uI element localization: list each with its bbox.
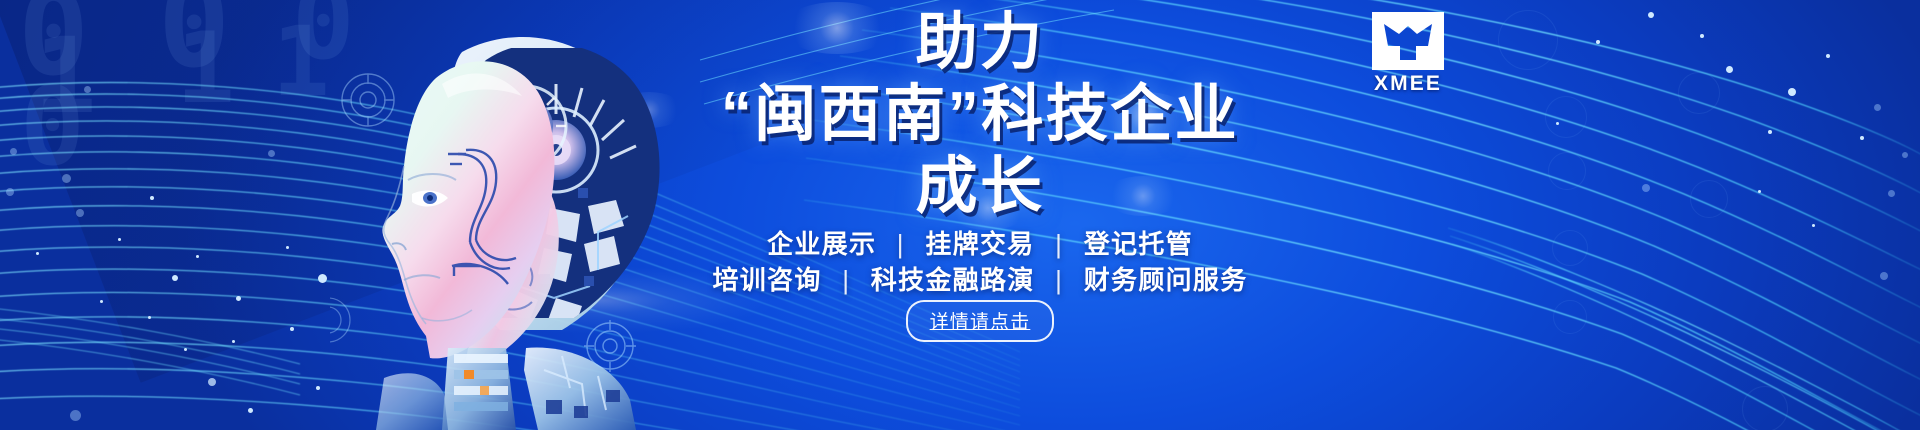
tech-circle-decor [1548,152,1586,190]
service-item-listing-trading: 挂牌交易 [925,229,1034,259]
headline-line-2: “闽西南”科技企业 [620,84,1340,146]
xmee-crown-mark [1372,12,1444,70]
service-list-row-2: 培训咨询 | 科技金融路演 | 财务顾问服务 [620,260,1340,297]
tech-circle-decor [1678,72,1720,114]
tech-circle-decor [1690,180,1728,218]
tech-circle-decor [1545,96,1587,138]
service-separator: | [897,229,905,260]
banner-copy: 助力 “闽西南”科技企业 成长 企业展示 | 挂牌交易 | 登记托管 培训咨询 … [620,0,1340,430]
tech-circle-decor [1552,230,1588,266]
service-separator: | [1055,265,1063,296]
tech-circle-decor [1742,386,1788,430]
service-item-tech-finance-roadshow: 科技金融路演 [871,265,1035,295]
tech-circle-decor [1553,300,1587,334]
service-item-financial-advisory: 财务顾问服务 [1084,265,1248,295]
service-separator: | [1055,229,1063,260]
service-item-registration-custody: 登记托管 [1084,229,1193,259]
xmee-logo-text: XMEE [1360,72,1456,96]
headline-line-3: 成长 [620,156,1340,218]
service-item-training-consulting: 培训咨询 [712,265,821,295]
service-separator: | [842,265,850,296]
details-cta-button[interactable]: 详情请点击 [906,300,1055,342]
cta-row: 详情请点击 [620,300,1340,342]
tech-circle-decor [1498,10,1558,70]
service-list-row-1: 企业展示 | 挂牌交易 | 登记托管 [620,224,1340,261]
service-item-enterprise-showcase: 企业展示 [767,229,876,259]
xmee-logo[interactable]: XMEE [1360,12,1456,96]
promotional-banner: 0 1 0 1 0 1 0 [0,0,1920,430]
headline-line-1: 助力 [620,12,1340,74]
